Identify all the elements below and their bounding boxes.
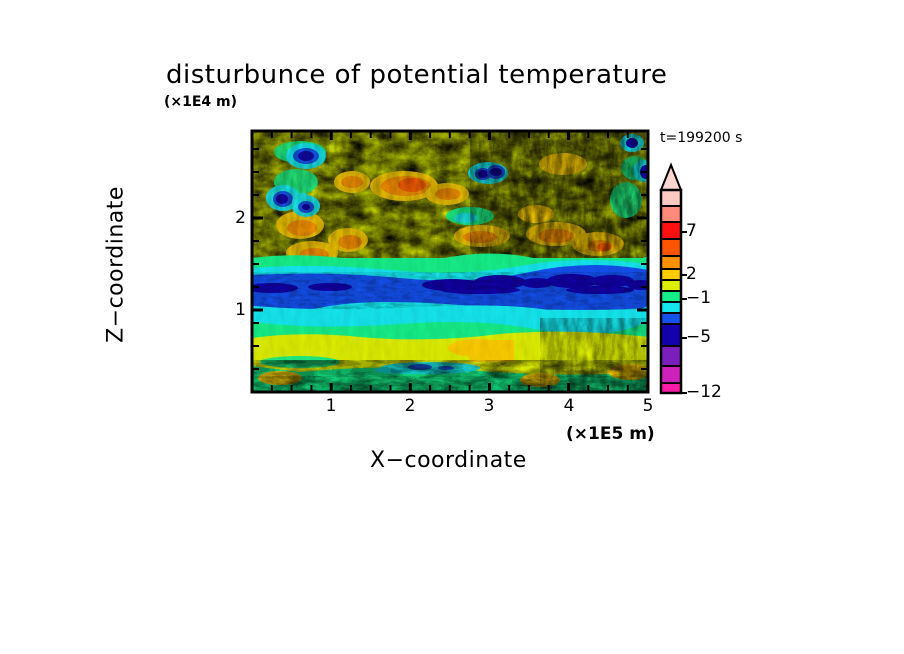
x-tick-label: 5 [633,396,663,416]
x-tick-label: 1 [316,396,346,416]
x-tick-label: 4 [554,396,584,416]
time-label: t=199200 s [660,130,742,146]
z-units-label: (×1E4 m) [164,94,237,110]
x-units-label: (×1E5 m) [566,424,655,444]
colorbar-bands [661,190,681,393]
colorbar-tick-label: −1 [686,288,711,308]
colorbar [661,165,687,393]
x-axis-title: X−coordinate [370,448,527,473]
x-tick-label: 3 [474,396,504,416]
contour-plot-area [246,131,655,392]
x-tick-label: 2 [395,396,425,416]
colorbar-tick-label: 2 [686,264,697,284]
y-tick-label: 2 [216,208,246,228]
y-tick-label: 1 [216,300,246,320]
triangle-up-icon [661,165,681,190]
page-title: disturbunce of potential temperature [166,60,667,90]
colorbar-tick-label: −5 [686,327,711,347]
colorbar-tick-label: −12 [686,382,722,402]
colorbar-tick-label: 7 [686,221,697,241]
y-axis-title: Z−coordinate [104,135,129,395]
contour-figure [0,0,904,654]
